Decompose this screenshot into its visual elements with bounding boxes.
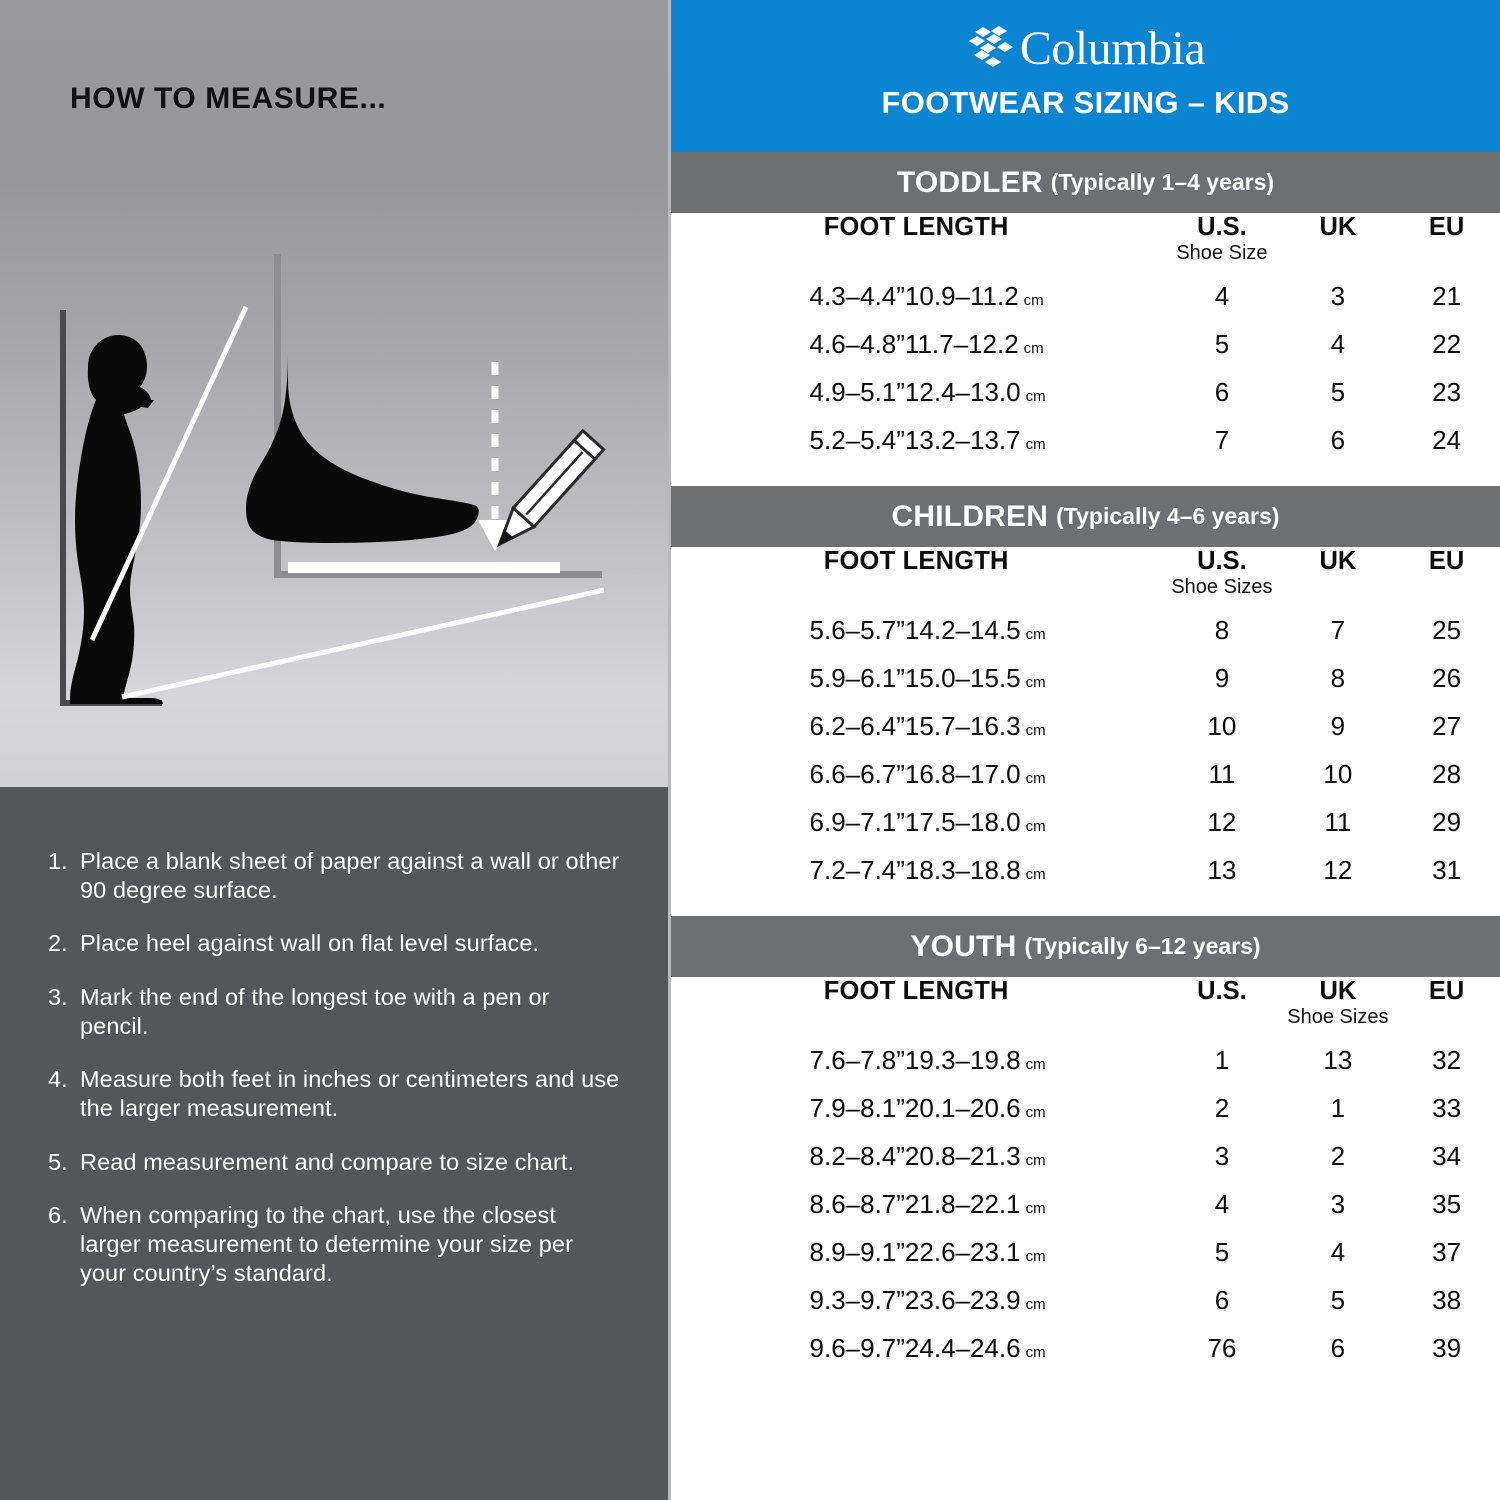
cell-uk: 4	[1282, 320, 1393, 368]
cm-unit-label: cm	[1026, 1248, 1046, 1265]
cell-us: 6	[1161, 1276, 1282, 1324]
cell-eu: 33	[1393, 1084, 1500, 1132]
cell-us: 9	[1161, 654, 1282, 702]
cell-cm: 10.9–11.2cm	[905, 272, 1161, 320]
cell-cm-value: 15.7–16.3	[905, 711, 1021, 741]
table-row: 4.6–4.8” 11.7–12.2cm 5 4 22	[671, 320, 1500, 368]
cell-cm-value: 21.8–22.1	[905, 1189, 1021, 1219]
cell-inches: 4.6–4.8”	[671, 320, 905, 368]
section-header-toddler: TODDLER (Typically 1–4 years)	[671, 152, 1500, 213]
table-subheader-row: Shoe Sizes	[671, 576, 1500, 606]
cell-eu: 39	[1393, 1324, 1500, 1372]
size-table-youth: FOOT LENGTH U.S. UK EU Shoe Sizes 7.6–7.…	[671, 977, 1500, 1372]
brand-logo: Columbia	[966, 22, 1205, 76]
instruction-text: Measure both feet in inches or centimete…	[80, 1065, 622, 1122]
cell-us: 76	[1161, 1324, 1282, 1372]
cell-cm: 20.8–21.3cm	[905, 1132, 1161, 1180]
cell-us: 12	[1161, 798, 1282, 846]
table-header-row: FOOT LENGTH U.S. UK EU	[671, 213, 1500, 242]
table-row: 6.6–6.7” 16.8–17.0cm 11 10 28	[671, 750, 1500, 798]
left-column: HOW TO MEASURE...	[0, 0, 668, 1500]
cell-cm: 16.8–17.0cm	[905, 750, 1161, 798]
section-age-range: (Typically 1–4 years)	[1051, 169, 1274, 196]
cm-unit-label: cm	[1026, 866, 1046, 883]
right-column: Columbia FOOTWEAR SIZING – KIDS TODDLER …	[668, 0, 1500, 1500]
instruction-number: 1.	[48, 847, 80, 904]
shoe-size-label: Shoe Sizes	[1161, 576, 1282, 606]
cell-uk: 7	[1282, 606, 1393, 654]
cell-uk: 13	[1282, 1036, 1393, 1084]
cell-cm-value: 24.4–24.6	[905, 1333, 1021, 1363]
section-header-children: CHILDREN (Typically 4–6 years)	[671, 486, 1500, 547]
table-subheader-row: Shoe Size	[671, 242, 1500, 272]
cell-cm: 23.6–23.9cm	[905, 1276, 1161, 1324]
cm-unit-label: cm	[1026, 626, 1046, 643]
cell-cm-value: 15.0–15.5	[905, 663, 1021, 693]
table-row: 9.6–9.7” 24.4–24.6cm 76 6 39	[671, 1324, 1500, 1372]
cell-eu: 26	[1393, 654, 1500, 702]
cm-unit-label: cm	[1026, 436, 1046, 453]
cell-us: 4	[1161, 272, 1282, 320]
cell-eu: 32	[1393, 1036, 1500, 1084]
cell-us: 5	[1161, 1228, 1282, 1276]
cell-eu: 24	[1393, 416, 1500, 464]
cell-us: 10	[1161, 702, 1282, 750]
cell-inches: 4.3–4.4”	[671, 272, 905, 320]
cell-us: 3	[1161, 1132, 1282, 1180]
table-header-row: FOOT LENGTH U.S. UK EU	[671, 977, 1500, 1006]
cell-inches: 9.6–9.7”	[671, 1324, 905, 1372]
cell-uk: 5	[1282, 1276, 1393, 1324]
cell-cm-value: 18.3–18.8	[905, 855, 1021, 885]
list-item: 5. Read measurement and compare to size …	[48, 1148, 622, 1177]
column-header-foot-length: FOOT LENGTH	[671, 213, 1161, 242]
cell-inches: 9.3–9.7”	[671, 1276, 905, 1324]
section-age-range: (Typically 6–12 years)	[1024, 933, 1260, 960]
cell-cm-value: 14.2–14.5	[905, 615, 1021, 645]
cell-us: 7	[1161, 416, 1282, 464]
cm-unit-label: cm	[1026, 722, 1046, 739]
cell-inches: 5.9–6.1”	[671, 654, 905, 702]
cell-eu: 22	[1393, 320, 1500, 368]
cell-eu: 28	[1393, 750, 1500, 798]
size-chart-page: HOW TO MEASURE...	[0, 0, 1500, 1500]
cell-eu: 31	[1393, 846, 1500, 894]
section-name: YOUTH	[910, 930, 1016, 964]
cm-unit-label: cm	[1026, 1152, 1046, 1169]
instruction-text: When comparing to the chart, use the clo…	[80, 1201, 622, 1287]
cell-inches: 4.9–5.1”	[671, 368, 905, 416]
cell-cm-value: 12.4–13.0	[905, 377, 1021, 407]
cell-cm: 15.0–15.5cm	[905, 654, 1161, 702]
cell-inches: 6.6–6.7”	[671, 750, 905, 798]
cell-cm-value: 10.9–11.2	[905, 281, 1019, 311]
cell-inches: 8.2–8.4”	[671, 1132, 905, 1180]
cell-uk: 2	[1282, 1132, 1393, 1180]
column-header-eu: EU	[1393, 977, 1500, 1006]
cell-cm-value: 20.1–20.6	[905, 1093, 1021, 1123]
cell-eu: 27	[1393, 702, 1500, 750]
cm-unit-label: cm	[1026, 1296, 1046, 1313]
cell-inches: 6.2–6.4”	[671, 702, 905, 750]
cell-uk: 8	[1282, 654, 1393, 702]
cell-cm-value: 22.6–23.1	[905, 1237, 1021, 1267]
cell-cm-value: 20.8–21.3	[905, 1141, 1021, 1171]
column-header-uk: UK	[1282, 977, 1393, 1006]
cell-cm: 12.4–13.0cm	[905, 368, 1161, 416]
cell-eu: 29	[1393, 798, 1500, 846]
cm-unit-label: cm	[1026, 1200, 1046, 1217]
table-row: 4.9–5.1” 12.4–13.0cm 6 5 23	[671, 368, 1500, 416]
instruction-number: 3.	[48, 983, 80, 1040]
cell-uk: 4	[1282, 1228, 1393, 1276]
cell-eu: 38	[1393, 1276, 1500, 1324]
cell-uk: 3	[1282, 272, 1393, 320]
cell-cm: 11.7–12.2cm	[905, 320, 1161, 368]
cell-us: 11	[1161, 750, 1282, 798]
table-row: 5.6–5.7” 14.2–14.5cm 8 7 25	[671, 606, 1500, 654]
instructions-panel: 1. Place a blank sheet of paper against …	[0, 787, 668, 1500]
column-header-us: U.S.	[1161, 547, 1282, 576]
cell-cm: 24.4–24.6cm	[905, 1324, 1161, 1372]
column-header-us: U.S.	[1161, 977, 1282, 1006]
cell-cm-value: 17.5–18.0	[905, 807, 1021, 837]
cell-cm: 13.2–13.7cm	[905, 416, 1161, 464]
list-item: 6. When comparing to the chart, use the …	[48, 1201, 622, 1287]
cell-uk: 9	[1282, 702, 1393, 750]
cell-us: 13	[1161, 846, 1282, 894]
table-row: 9.3–9.7” 23.6–23.9cm 6 5 38	[671, 1276, 1500, 1324]
cell-eu: 34	[1393, 1132, 1500, 1180]
cell-us: 5	[1161, 320, 1282, 368]
instruction-number: 6.	[48, 1201, 80, 1287]
table-subheader-row: Shoe Sizes	[671, 1006, 1500, 1036]
table-row: 8.9–9.1” 22.6–23.1cm 5 4 37	[671, 1228, 1500, 1276]
cell-cm-value: 16.8–17.0	[905, 759, 1021, 789]
cell-uk: 5	[1282, 368, 1393, 416]
cell-inches: 8.9–9.1”	[671, 1228, 905, 1276]
column-header-foot-length: FOOT LENGTH	[671, 547, 1161, 576]
section-name: CHILDREN	[892, 500, 1049, 534]
cm-unit-label: cm	[1024, 292, 1044, 309]
table-row: 8.6–8.7” 21.8–22.1cm 4 3 35	[671, 1180, 1500, 1228]
column-header-uk: UK	[1282, 213, 1393, 242]
cell-uk: 11	[1282, 798, 1393, 846]
column-header-eu: EU	[1393, 547, 1500, 576]
cell-eu: 37	[1393, 1228, 1500, 1276]
brand-name: Columbia	[1020, 25, 1205, 73]
instruction-text: Place heel against wall on flat level su…	[80, 929, 622, 958]
instruction-list: 1. Place a blank sheet of paper against …	[48, 847, 622, 1287]
table-row: 4.3–4.4” 10.9–11.2cm 4 3 21	[671, 272, 1500, 320]
cm-unit-label: cm	[1026, 1104, 1046, 1121]
cell-us: 6	[1161, 368, 1282, 416]
cm-unit-label: cm	[1026, 818, 1046, 835]
size-table-toddler: FOOT LENGTH U.S. UK EU Shoe Size 4.3–4.4…	[671, 213, 1500, 486]
cell-us: 4	[1161, 1180, 1282, 1228]
list-item: 1. Place a blank sheet of paper against …	[48, 847, 622, 904]
instruction-number: 5.	[48, 1148, 80, 1177]
cell-inches: 7.9–8.1”	[671, 1084, 905, 1132]
cell-inches: 5.6–5.7”	[671, 606, 905, 654]
instruction-text: Place a blank sheet of paper against a w…	[80, 847, 622, 904]
cell-uk: 1	[1282, 1084, 1393, 1132]
column-header-foot-length: FOOT LENGTH	[671, 977, 1161, 1006]
shoe-size-label: Shoe Size	[1161, 242, 1282, 272]
cell-cm-value: 11.7–12.2	[905, 329, 1019, 359]
cm-unit-label: cm	[1026, 770, 1046, 787]
cm-unit-label: cm	[1026, 1056, 1046, 1073]
table-row: 6.2–6.4” 15.7–16.3cm 10 9 27	[671, 702, 1500, 750]
brand-subtitle: FOOTWEAR SIZING – KIDS	[882, 85, 1290, 121]
cell-eu: 35	[1393, 1180, 1500, 1228]
section-age-range: (Typically 4–6 years)	[1056, 503, 1279, 530]
table-row: 7.9–8.1” 20.1–20.6cm 2 1 33	[671, 1084, 1500, 1132]
cell-uk: 3	[1282, 1180, 1393, 1228]
cell-cm: 18.3–18.8cm	[905, 846, 1161, 894]
cell-us: 1	[1161, 1036, 1282, 1084]
column-header-uk: UK	[1282, 547, 1393, 576]
section-name: TODDLER	[897, 166, 1043, 200]
cell-cm: 19.3–19.8cm	[905, 1036, 1161, 1084]
table-row: 7.2–7.4” 18.3–18.8cm 13 12 31	[671, 846, 1500, 894]
list-item: 3. Mark the end of the longest toe with …	[48, 983, 622, 1040]
cm-unit-label: cm	[1024, 340, 1044, 357]
instruction-text: Read measurement and compare to size cha…	[80, 1148, 622, 1177]
how-to-measure-illustration-panel: HOW TO MEASURE...	[0, 0, 668, 787]
instruction-text: Mark the end of the longest toe with a p…	[80, 983, 622, 1040]
table-header-row: FOOT LENGTH U.S. UK EU	[671, 547, 1500, 576]
instruction-number: 4.	[48, 1065, 80, 1122]
instruction-number: 2.	[48, 929, 80, 958]
cell-uk: 6	[1282, 416, 1393, 464]
cell-inches: 5.2–5.4”	[671, 416, 905, 464]
section-header-youth: YOUTH (Typically 6–12 years)	[671, 916, 1500, 977]
cell-inches: 7.6–7.8”	[671, 1036, 905, 1084]
cm-unit-label: cm	[1026, 674, 1046, 691]
cell-cm-value: 23.6–23.9	[905, 1285, 1021, 1315]
cell-eu: 23	[1393, 368, 1500, 416]
cell-uk: 10	[1282, 750, 1393, 798]
cell-inches: 8.6–8.7”	[671, 1180, 905, 1228]
cell-cm: 21.8–22.1cm	[905, 1180, 1161, 1228]
table-row: 6.9–7.1” 17.5–18.0cm 12 11 29	[671, 798, 1500, 846]
size-table-children: FOOT LENGTH U.S. UK EU Shoe Sizes 5.6–5.…	[671, 547, 1500, 916]
cell-inches: 6.9–7.1”	[671, 798, 905, 846]
column-header-us: U.S.	[1161, 213, 1282, 242]
cell-cm: 15.7–16.3cm	[905, 702, 1161, 750]
cell-cm-value: 13.2–13.7	[905, 425, 1021, 455]
cell-eu: 21	[1393, 272, 1500, 320]
columbia-diamond-logo-icon	[966, 26, 1016, 72]
cell-uk: 6	[1282, 1324, 1393, 1372]
cell-uk: 12	[1282, 846, 1393, 894]
list-item: 2. Place heel against wall on flat level…	[48, 929, 622, 958]
measure-diagram-icon	[0, 0, 668, 787]
cell-cm-value: 19.3–19.8	[905, 1045, 1021, 1075]
cm-unit-label: cm	[1026, 388, 1046, 405]
list-item: 4. Measure both feet in inches or centim…	[48, 1065, 622, 1122]
table-row: 5.2–5.4” 13.2–13.7cm 7 6 24	[671, 416, 1500, 464]
cell-cm: 20.1–20.6cm	[905, 1084, 1161, 1132]
column-header-eu: EU	[1393, 213, 1500, 242]
cell-cm: 14.2–14.5cm	[905, 606, 1161, 654]
cell-inches: 7.2–7.4”	[671, 846, 905, 894]
cell-cm: 17.5–18.0cm	[905, 798, 1161, 846]
table-bottom-spacer	[671, 894, 1500, 916]
cell-eu: 25	[1393, 606, 1500, 654]
table-row: 7.6–7.8” 19.3–19.8cm 1 13 32	[671, 1036, 1500, 1084]
cm-unit-label: cm	[1026, 1344, 1046, 1361]
brand-header: Columbia FOOTWEAR SIZING – KIDS	[671, 0, 1500, 152]
table-row: 8.2–8.4” 20.8–21.3cm 3 2 34	[671, 1132, 1500, 1180]
table-row: 5.9–6.1” 15.0–15.5cm 9 8 26	[671, 654, 1500, 702]
cell-cm: 22.6–23.1cm	[905, 1228, 1161, 1276]
cell-us: 2	[1161, 1084, 1282, 1132]
cell-us: 8	[1161, 606, 1282, 654]
table-bottom-spacer	[671, 464, 1500, 486]
shoe-size-label: Shoe Sizes	[1282, 1006, 1393, 1036]
